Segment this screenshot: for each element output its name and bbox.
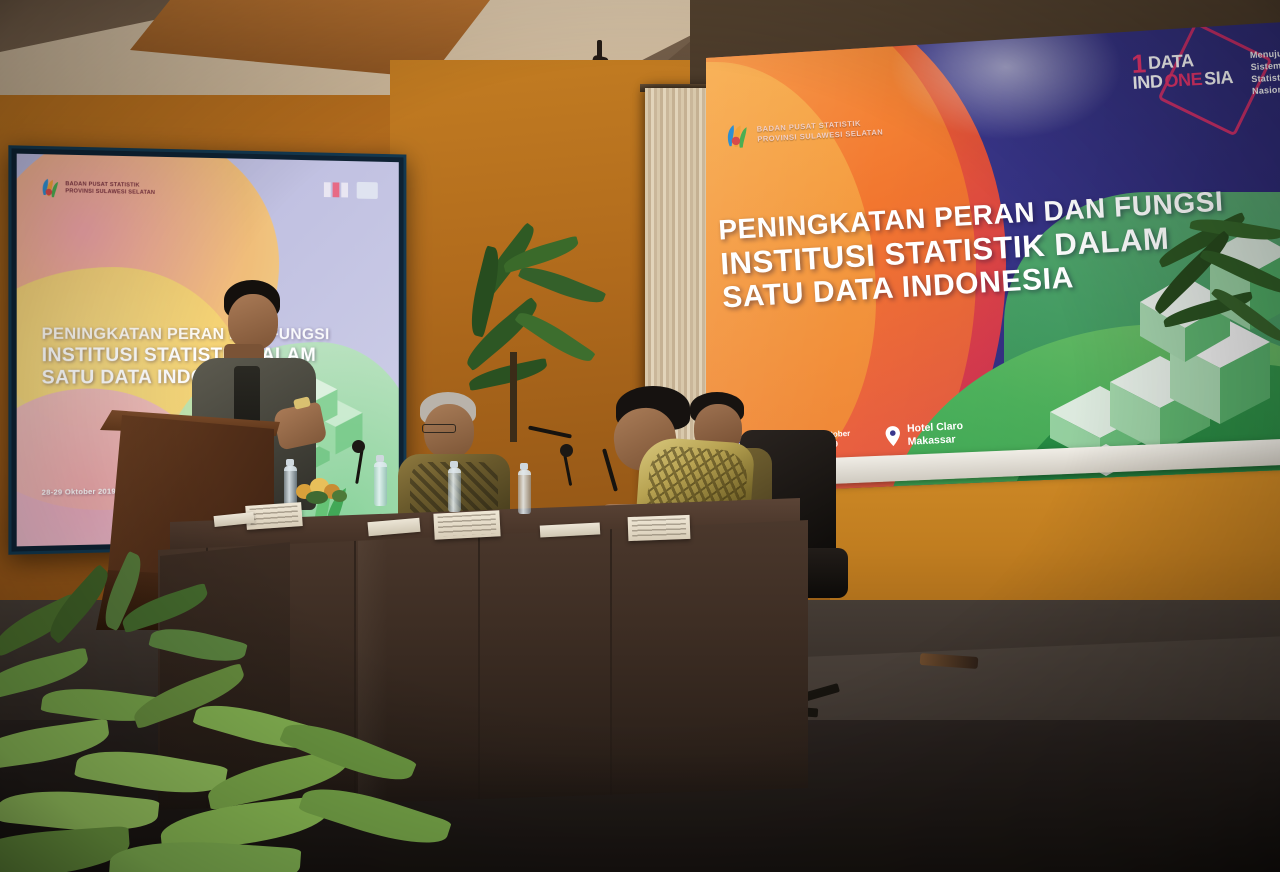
banner-venue-block: Hotel Claro Makassar <box>884 420 964 449</box>
slide-organization-text: BADAN PUSAT STATISTIK PROVINSI SULAWESI … <box>65 181 155 197</box>
banner-campaign-one: ONE <box>1164 71 1203 90</box>
bottle-cap <box>376 455 384 462</box>
banner-tagline-line4: Nasional <box>1252 83 1280 97</box>
palm-frond <box>514 305 595 368</box>
bottle-cap <box>520 463 528 470</box>
flower-arrangement <box>292 472 350 506</box>
bps-logo-icon <box>40 177 61 200</box>
name-card-text <box>438 513 497 536</box>
name-card <box>433 510 500 539</box>
microphone-head <box>560 444 573 457</box>
speaker-head <box>228 294 278 350</box>
banner-campaign-data: DATA <box>1147 52 1194 72</box>
palm-stem <box>510 352 517 442</box>
water-bottle <box>448 468 461 512</box>
name-card-text <box>249 505 298 526</box>
bottle-cap <box>450 461 458 468</box>
plant-leaf <box>148 621 247 669</box>
flower-leaf <box>306 491 328 504</box>
banner-campaign-sia: SIA <box>1203 69 1233 88</box>
slide-org-line2: PROVINSI SULAWESI SELATAN <box>65 188 155 197</box>
decorative-plants <box>0 586 450 872</box>
conference-room-photo: BADAN PUSAT STATISTIK PROVINSI SULAWESI … <box>0 0 1280 872</box>
slide-campaign-logo <box>324 180 378 201</box>
name-card-text <box>632 518 687 538</box>
water-bottle <box>518 470 531 514</box>
banner-venue-text: Hotel Claro Makassar <box>907 420 964 448</box>
banner-tagline: Menuju Sistem Statistik Nasional <box>1249 47 1280 98</box>
location-pin-icon <box>884 425 901 447</box>
slide-tagline-icon <box>357 181 378 201</box>
potted-palm <box>426 242 616 442</box>
banner-venue-line2: Makassar <box>907 432 964 448</box>
banner-organization-text: BADAN PUSAT STATISTIK PROVINSI SULAWESI … <box>757 118 884 145</box>
plant-leaf <box>298 776 452 857</box>
bottle-cap <box>286 459 294 466</box>
water-bottle <box>374 462 387 506</box>
name-card <box>628 515 691 541</box>
palm-foreground <box>1136 216 1280 376</box>
flower-leaf <box>332 490 347 502</box>
name-card <box>245 502 303 530</box>
slide-organization-logo: BADAN PUSAT STATISTIK PROVINSI SULAWESI … <box>40 177 156 201</box>
bps-logo-icon <box>723 121 751 150</box>
microphone-head <box>352 440 365 453</box>
banner-campaign-ind: IND <box>1132 73 1163 92</box>
speaker-hand <box>272 401 327 450</box>
banner-campaign-logo: 1 DATA INDONESIA <box>1130 47 1233 92</box>
one-data-indonesia-icon <box>324 180 349 200</box>
